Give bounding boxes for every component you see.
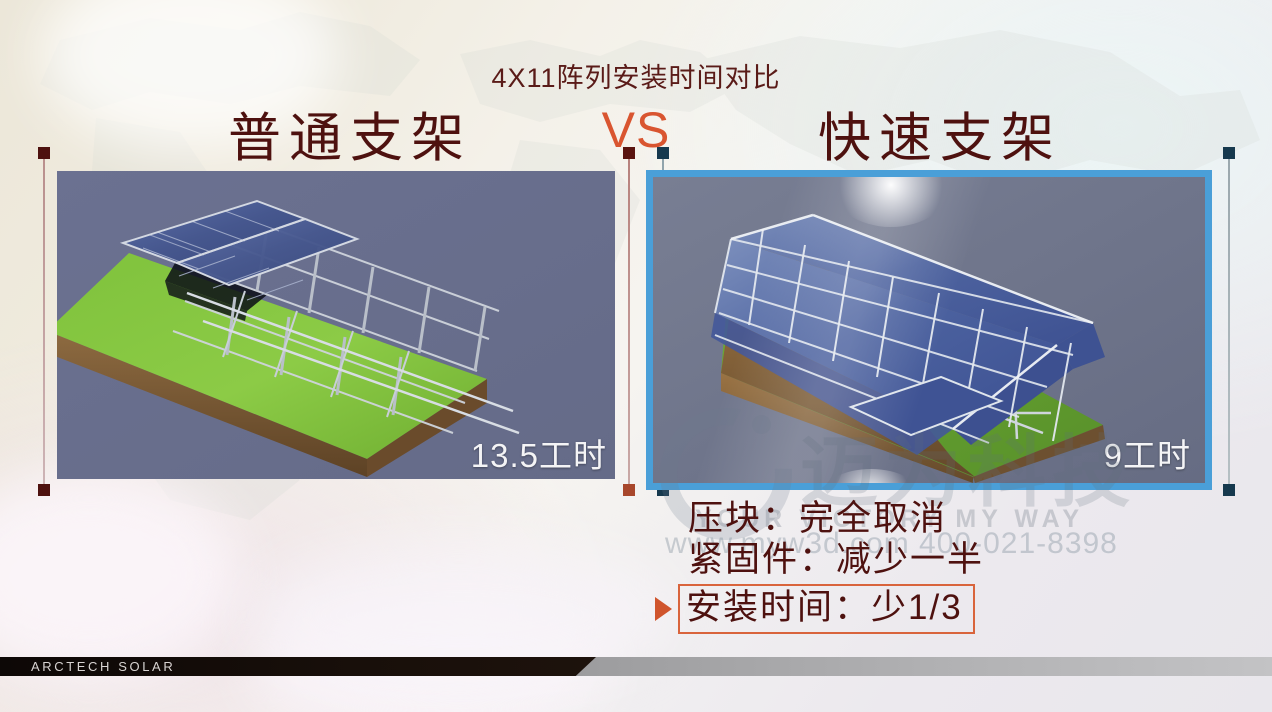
slide-subtitle: 4X11阵列安装时间对比: [0, 56, 1272, 95]
benefit-list: 压块：完全取消 紧固件：减少一半 安装时间：少1/3: [655, 498, 984, 634]
rule-cap-icon: [623, 147, 635, 159]
list-item: 紧固件：减少一半: [655, 539, 984, 580]
rule-far-right: [1228, 153, 1230, 490]
footer-brand: ARCTECH SOLAR: [31, 659, 175, 674]
footer-bar-gray: [540, 657, 1272, 676]
photo-fast-rack[interactable]: 9工时: [646, 170, 1212, 490]
left-hours-label: 13.5工时: [471, 429, 607, 477]
rule-far-left: [43, 153, 45, 490]
rule-cap-icon: [1223, 147, 1235, 159]
rule-center-red: [628, 153, 630, 490]
list-item-highlighted[interactable]: 安装时间：少1/3: [655, 584, 984, 634]
rule-cap-icon: [657, 147, 669, 159]
right-column-heading: 快速支架: [760, 96, 1120, 172]
rule-cap-icon: [38, 484, 50, 496]
right-hours-label: 9工时: [1104, 429, 1191, 477]
light-blotch-2: [0, 470, 240, 680]
vs-label: VS: [588, 101, 684, 159]
photo-conventional-rack[interactable]: 13.5工时: [57, 171, 615, 479]
rule-cap-icon: [1223, 484, 1235, 496]
list-item: 压块：完全取消: [655, 498, 984, 539]
list-item-highlight-box: 安装时间：少1/3: [678, 584, 975, 634]
light-blotch-3: [250, 600, 610, 712]
rule-cap-icon: [38, 147, 50, 159]
triangle-pointer-icon: [655, 597, 672, 621]
rule-cap-icon: [623, 484, 635, 496]
left-column-heading: 普通支架: [150, 96, 550, 172]
